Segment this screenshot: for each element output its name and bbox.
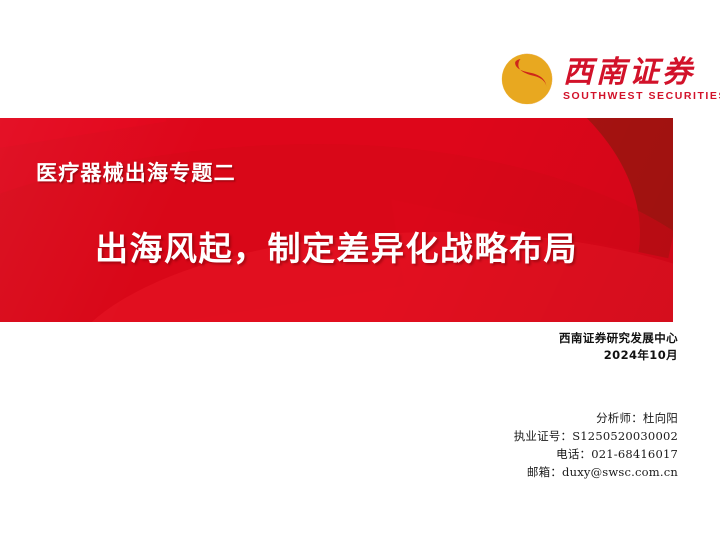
- logo-english-name: SOUTHWEST SECURITIES: [563, 90, 720, 103]
- analyst-phone: 电话：021-68416017: [514, 445, 678, 463]
- report-cover-slide: 西南证券 SOUTHWEST SECURITIES 医疗器械出海专题二 出海风起…: [0, 0, 720, 540]
- analyst-info-block: 分析师：杜向阳 执业证号：S1250520030002 电话：021-68416…: [514, 409, 678, 482]
- analyst-name: 分析师：杜向阳: [514, 409, 678, 427]
- analyst-email: 邮箱：duxy@swsc.com.cn: [514, 463, 678, 481]
- banner-gloss-overlay: [0, 118, 673, 322]
- southwest-securities-swirl-logo: [500, 52, 554, 106]
- organization-name: 西南证券研究发展中心: [559, 330, 678, 347]
- company-logo: 西南证券 SOUTHWEST SECURITIES: [500, 44, 700, 114]
- report-date: 2024年10月: [559, 347, 678, 364]
- title-banner: [0, 118, 673, 322]
- report-series-subtitle: 医疗器械出海专题二: [36, 157, 236, 187]
- logo-wordmark: 西南证券 SOUTHWEST SECURITIES: [563, 55, 720, 103]
- logo-chinese-name: 西南证券: [563, 57, 720, 89]
- report-main-title: 出海风起，制定差异化战略布局: [0, 222, 673, 270]
- analyst-license-number: 执业证号：S1250520030002: [514, 427, 678, 445]
- organization-block: 西南证券研究发展中心 2024年10月: [559, 330, 678, 365]
